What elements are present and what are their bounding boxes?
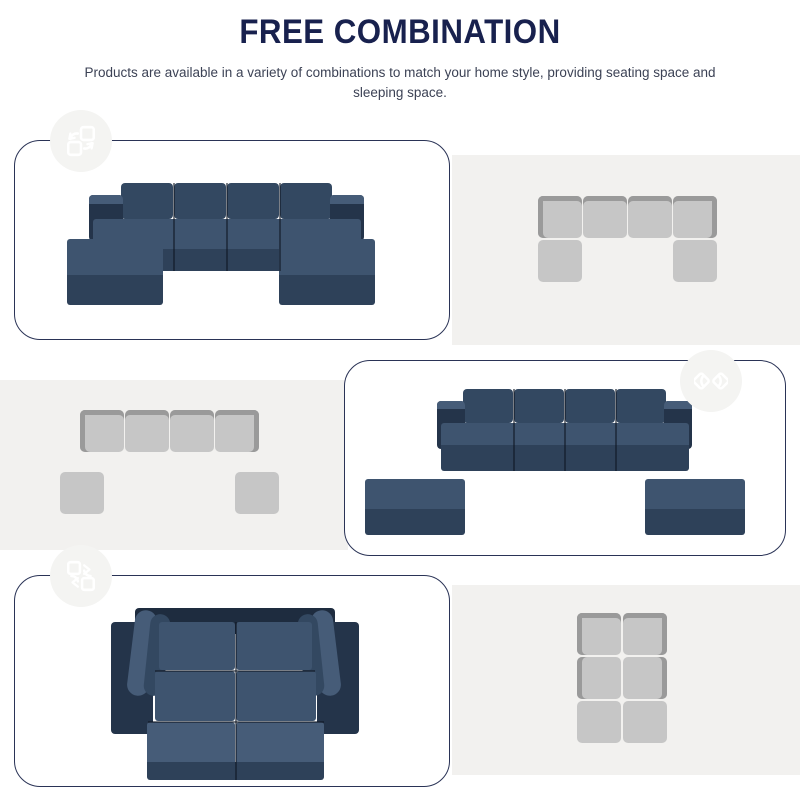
diagram-module-seat-2	[125, 410, 169, 452]
diagram-module-bed-4	[623, 657, 667, 699]
diagram-module-seat-4	[673, 196, 717, 238]
bed-layout-diagram	[577, 613, 677, 747]
diagram-module-bed-5	[577, 701, 621, 743]
straight-sofa-layout-diagram-panel	[0, 380, 348, 550]
page-title: FREE COMBINATION	[32, 0, 768, 51]
rearrange-corner-squares-icon	[64, 559, 98, 593]
straight-sofa-layout-diagram	[60, 410, 260, 520]
bed-layout-diagram-panel	[452, 585, 800, 775]
infographic-page: FREE COMBINATION Products are available …	[0, 0, 800, 800]
diagram-module-seat-4	[215, 410, 259, 452]
header: FREE COMBINATION Products are available …	[0, 0, 800, 103]
diagram-module-bed-2	[623, 613, 667, 655]
diagram-module-seat-3	[170, 410, 214, 452]
diagram-module-ottoman-left	[538, 240, 582, 282]
u-shape-layout-diagram-panel	[452, 155, 800, 345]
diagram-module-seat-1	[538, 196, 582, 238]
rearrange-corner-squares-icon-badge	[50, 545, 112, 607]
diagram-module-ottoman-left	[60, 472, 104, 514]
diagram-module-seat-2	[583, 196, 627, 238]
rearrange-diamonds-icon	[694, 364, 728, 398]
rearrange-diamonds-icon-badge	[680, 350, 742, 412]
rearrange-squares-icon	[64, 124, 98, 158]
diagram-module-ottoman-right	[673, 240, 717, 282]
diagram-module-ottoman-right	[235, 472, 279, 514]
diagram-module-seat-3	[628, 196, 672, 238]
rearrange-squares-icon-badge	[50, 110, 112, 172]
bed-configuration-photo	[15, 576, 449, 786]
diagram-module-bed-3	[577, 657, 621, 699]
diagram-module-bed-6	[623, 701, 667, 743]
diagram-module-bed-1	[577, 613, 621, 655]
diagram-module-seat-1	[80, 410, 124, 452]
u-shape-layout-diagram	[538, 196, 718, 296]
page-subtitle: Products are available in a variety of c…	[70, 51, 730, 102]
